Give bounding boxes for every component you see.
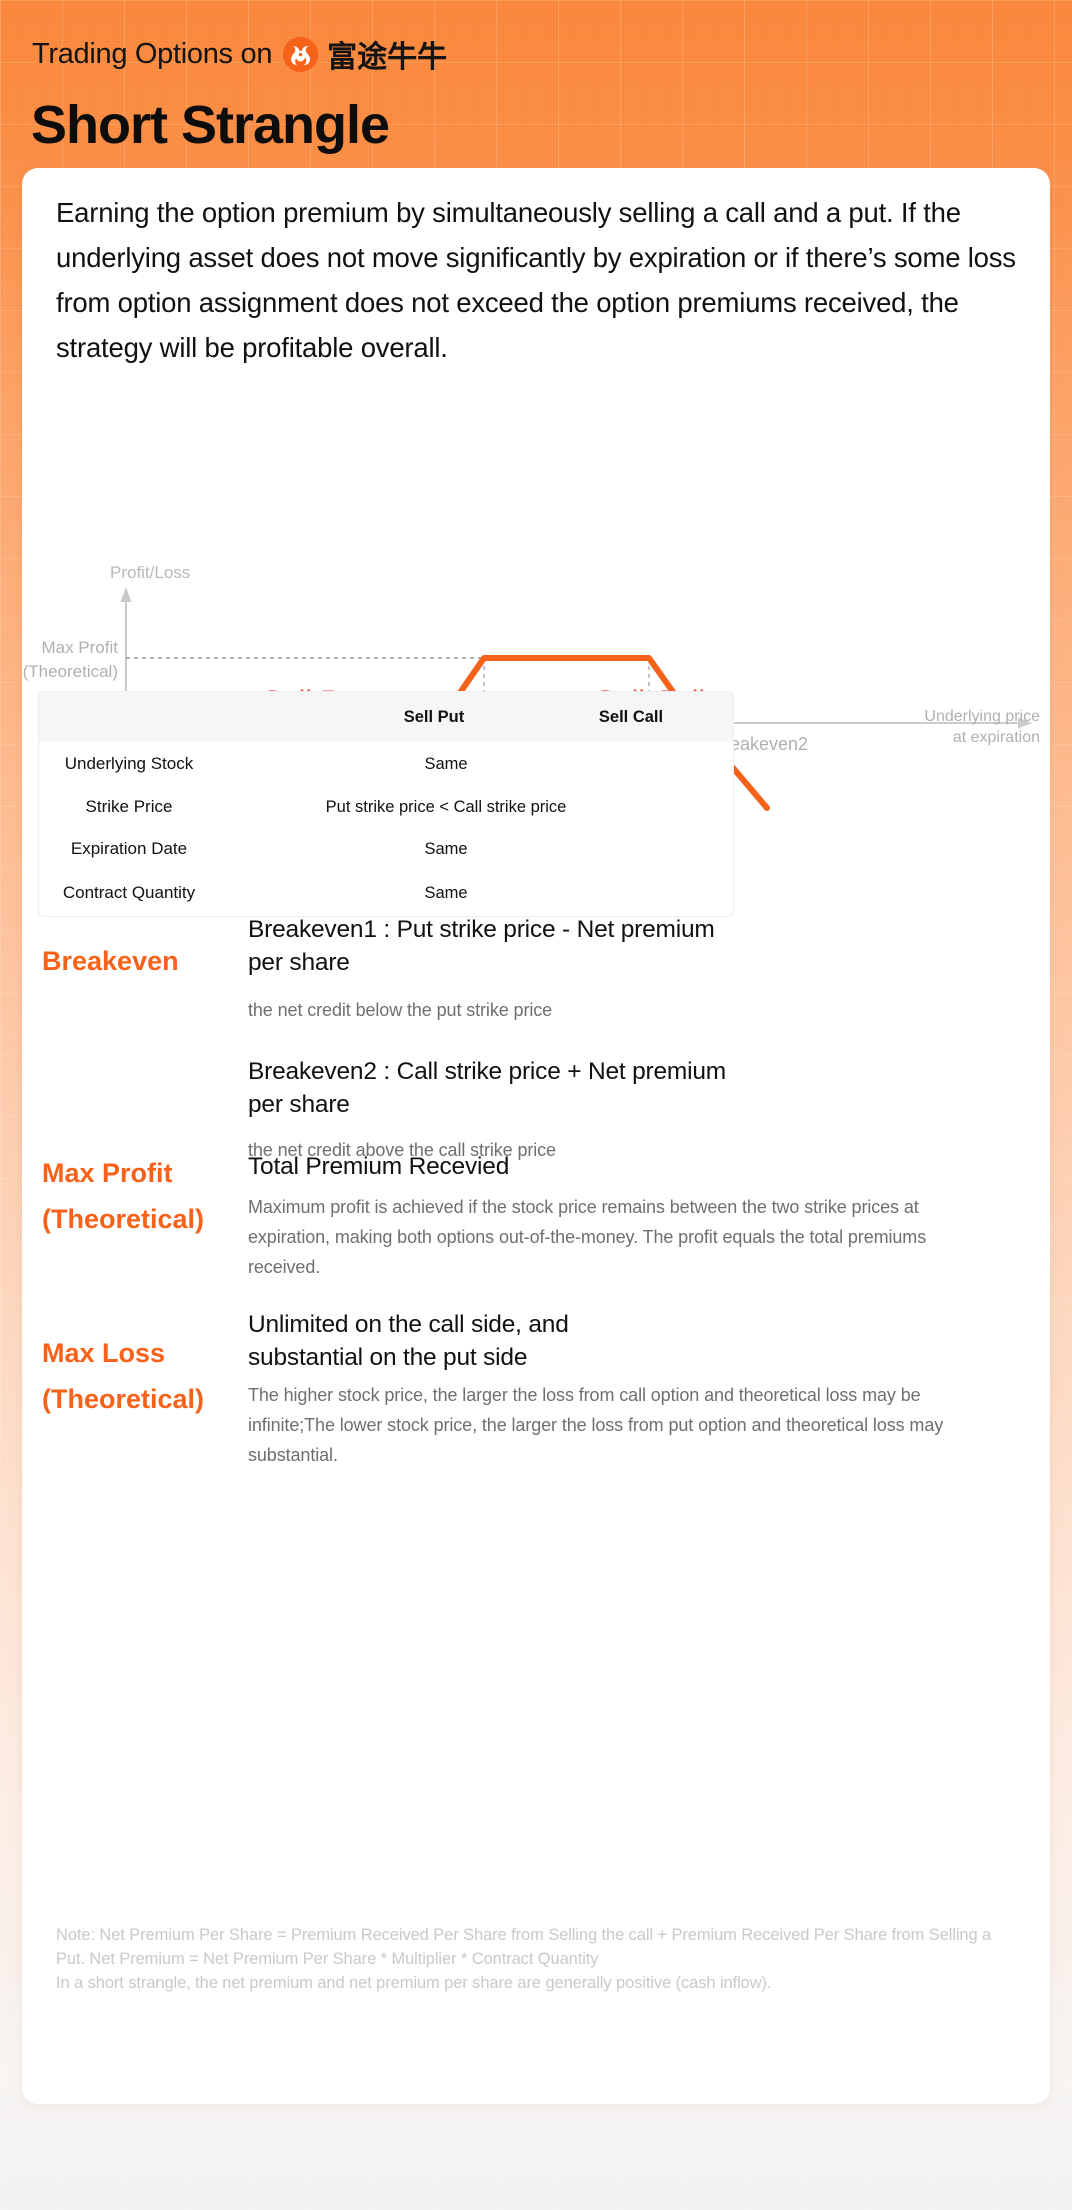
- max-profit-label-line1: Max Profit: [42, 1150, 248, 1196]
- detail-row-max-loss: Max Loss (Theoretical) Unlimited on the …: [22, 1308, 1050, 1470]
- table-row-value: Same: [219, 755, 733, 774]
- comparison-table: Sell Put Sell Call Underlying Stock Same…: [38, 691, 734, 917]
- footnote: Note: Net Premium Per Share = Premium Re…: [56, 1923, 1016, 1995]
- table-row: Strike Price Put strike price < Call str…: [39, 786, 733, 828]
- detail-row-breakeven: Breakeven Breakeven1 : Put strike price …: [22, 913, 1050, 1165]
- page-title: Short Strangle: [31, 96, 389, 155]
- bull-logo-icon: [283, 37, 318, 72]
- brand-row: Trading Options on 富途牛牛: [32, 33, 447, 75]
- max-loss-label-line1: Max Loss: [42, 1330, 248, 1376]
- table-header-sell-call: Sell Call: [529, 708, 733, 727]
- detail-row-max-profit: Max Profit (Theoretical) Total Premium R…: [22, 1150, 1050, 1282]
- strategy-description: Earning the option premium by simultaneo…: [56, 190, 1016, 370]
- max-profit-axis-label-line2: (Theoretical): [23, 662, 118, 681]
- table-header-sell-put: Sell Put: [339, 708, 529, 727]
- brand-chinese-label: 富途牛牛: [327, 32, 447, 76]
- breakeven1-formula: Breakeven1 : Put strike price - Net prem…: [248, 913, 718, 979]
- max-loss-headline: Unlimited on the call side, and substant…: [248, 1308, 678, 1374]
- breakeven-section-label: Breakeven: [22, 913, 248, 1165]
- max-loss-label-line2: (Theoretical): [42, 1376, 248, 1422]
- table-header-row: Sell Put Sell Call: [39, 692, 733, 742]
- max-profit-axis-label-line1: Max Profit: [41, 638, 118, 657]
- table-row-label: Contract Quantity: [39, 883, 219, 903]
- y-axis-label: Profit/Loss: [110, 563, 190, 582]
- brand-prefix-label: Trading Options on: [32, 38, 272, 71]
- table-row: Contract Quantity Same: [39, 870, 733, 916]
- max-loss-section-label: Max Loss (Theoretical): [22, 1308, 248, 1470]
- max-profit-headline: Total Premium Recevied: [248, 1150, 1018, 1183]
- table-row: Underlying Stock Same: [39, 742, 733, 786]
- max-profit-label-line2: (Theoretical): [42, 1196, 248, 1242]
- breakeven1-note: the net credit below the put strike pric…: [248, 995, 1018, 1025]
- table-row-label: Expiration Date: [39, 839, 219, 859]
- breakeven2-formula: Breakeven2 : Call strike price + Net pre…: [248, 1055, 728, 1121]
- table-row-label: Underlying Stock: [39, 754, 219, 774]
- y-axis-arrow: [121, 587, 132, 602]
- footnote-line2: In a short strangle, the net premium and…: [56, 1971, 1016, 1995]
- table-row-value: Same: [219, 840, 733, 859]
- x-axis-label-line1: Underlying price: [924, 708, 1040, 725]
- max-loss-note: The higher stock price, the larger the l…: [248, 1380, 948, 1470]
- table-row: Expiration Date Same: [39, 828, 733, 870]
- max-profit-note: Maximum profit is achieved if the stock …: [248, 1192, 928, 1282]
- table-row-value: Same: [219, 884, 733, 903]
- strategy-card: Earning the option premium by simultaneo…: [22, 168, 1050, 2104]
- max-profit-section-label: Max Profit (Theoretical): [22, 1150, 248, 1282]
- table-row-label: Strike Price: [39, 797, 219, 817]
- x-axis-label-line2: at expiration: [953, 729, 1040, 746]
- footnote-line1: Note: Net Premium Per Share = Premium Re…: [56, 1923, 1016, 1971]
- table-row-value: Put strike price < Call strike price: [219, 798, 733, 817]
